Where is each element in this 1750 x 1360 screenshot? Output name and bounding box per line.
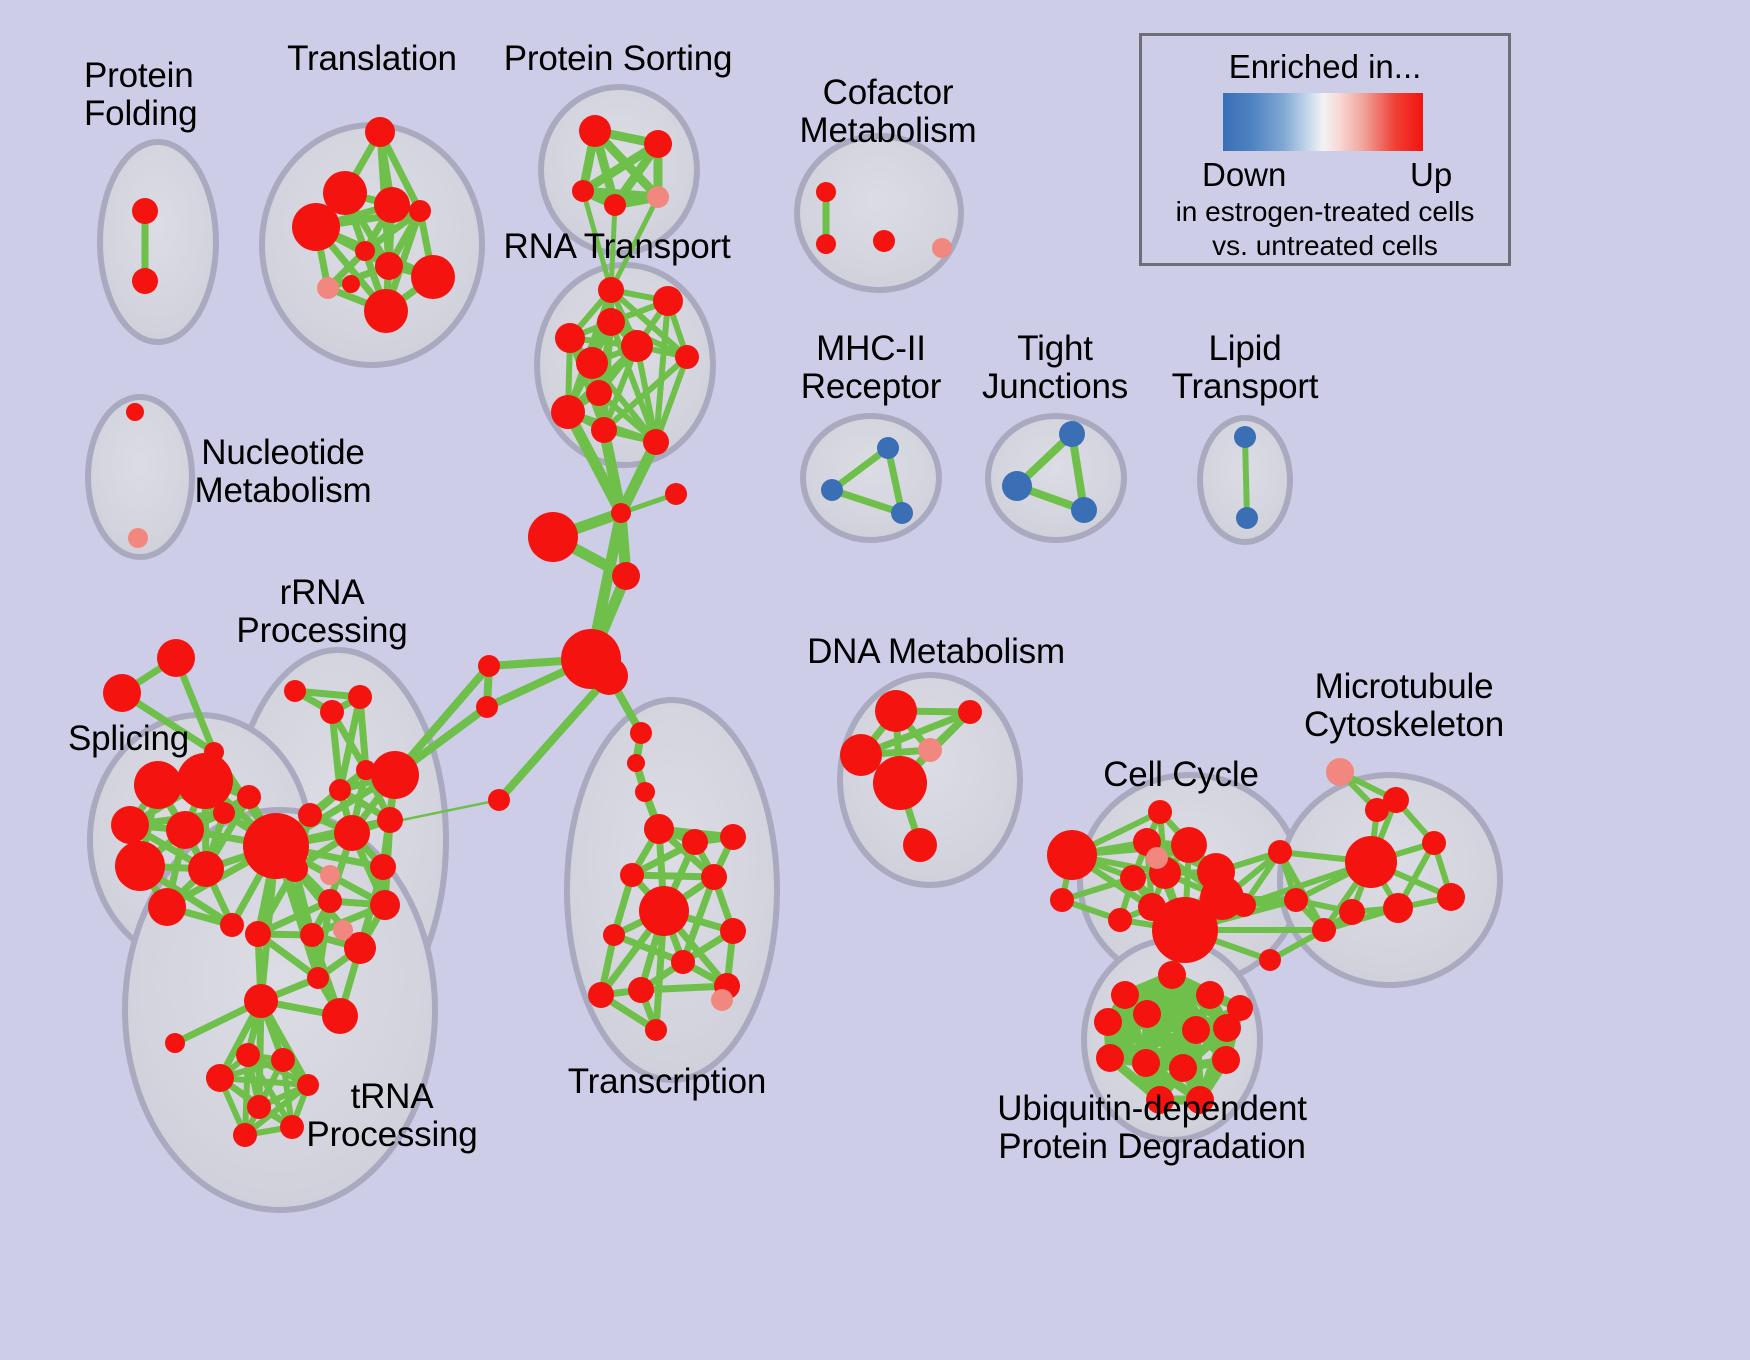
- label-microtubule-cytoskeleton: Microtubule Cytoskeleton: [1304, 668, 1504, 744]
- label-protein-folding: Protein Folding: [84, 57, 197, 133]
- label-splicing: Splicing: [68, 720, 189, 758]
- label-cofactor-metabolism: Cofactor Metabolism: [800, 74, 977, 150]
- node-rrna-weak-1: [320, 865, 340, 885]
- label-translation: Translation: [287, 40, 457, 78]
- node-nucleotide-weak: [128, 528, 148, 548]
- label-rrna-processing: rRNA Processing: [236, 574, 407, 650]
- legend-subtitle-line1: in estrogen-treated cells: [1142, 196, 1508, 228]
- node-transcription-weak: [711, 989, 733, 1011]
- label-trna-processing: tRNA Processing: [306, 1078, 477, 1154]
- blob-protein-folding: [100, 142, 216, 342]
- label-lipid-transport: Lipid Transport: [1172, 330, 1319, 406]
- legend-up-label: Up: [1410, 156, 1452, 194]
- label-dna-metabolism: DNA Metabolism: [807, 633, 1065, 671]
- node-nucleotide-up: [126, 403, 144, 421]
- label-ubiquitin-protein-degradation: Ubiquitin-dependent Protein Degradation: [997, 1090, 1307, 1166]
- blob-cofactor-metabolism: [797, 136, 961, 290]
- label-rna-transport: RNA Transport: [504, 228, 731, 266]
- label-nucleotide-metabolism: Nucleotide Metabolism: [195, 434, 372, 510]
- legend-title: Enriched in...: [1142, 48, 1508, 86]
- node-microtubule-weak: [1326, 758, 1354, 786]
- node-dna-weak: [918, 738, 942, 762]
- legend-box: Enriched in... Down Up in estrogen-treat…: [1139, 33, 1511, 266]
- legend-down-label: Down: [1202, 156, 1286, 194]
- legend-subtitle-line2: vs. untreated cells: [1142, 230, 1508, 262]
- label-mhc-ii-receptor: MHC-II Receptor: [801, 330, 941, 406]
- label-transcription: Transcription: [568, 1063, 766, 1101]
- blob-mhc-ii-receptor: [803, 416, 939, 540]
- node-cell-cycle-weak: [1146, 847, 1168, 869]
- node-translation-weak: [317, 277, 339, 299]
- node-rrna-weak-2: [333, 920, 353, 940]
- legend-color-gradient-bar: [1223, 93, 1423, 151]
- label-tight-junctions: Tight Junctions: [982, 330, 1128, 406]
- label-protein-sorting: Protein Sorting: [504, 40, 733, 78]
- enrichment-map-figure: Protein Folding Translation Protein Sort…: [0, 0, 1750, 1360]
- label-cell-cycle: Cell Cycle: [1103, 756, 1259, 794]
- node-cofactor-weak: [932, 238, 952, 258]
- node-protein-sorting-weak: [647, 186, 669, 208]
